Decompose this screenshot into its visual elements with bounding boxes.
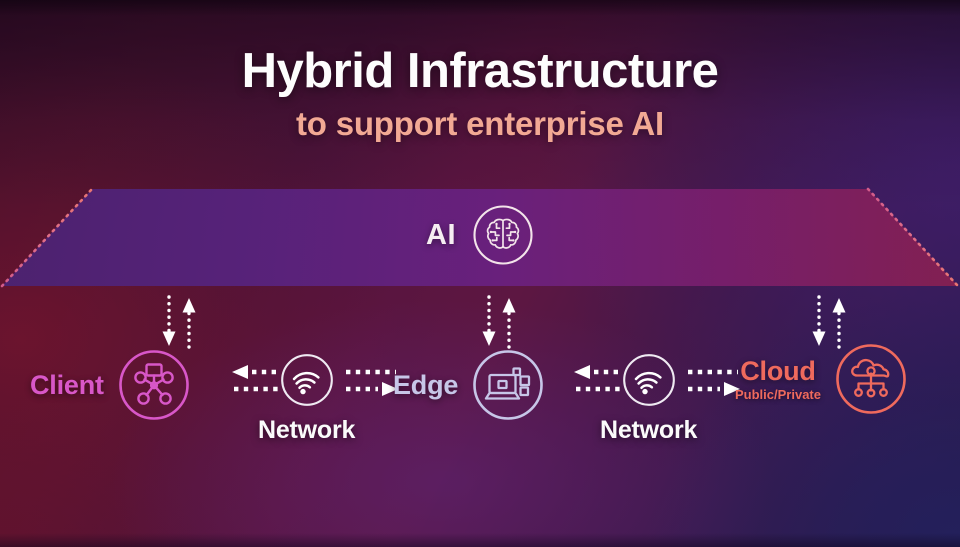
page-subtitle: to support enterprise AI	[0, 105, 960, 143]
flow-node-edge[interactable]: Edge	[393, 348, 545, 422]
cloud-distribution-icon	[834, 342, 908, 416]
laptop-devices-icon	[471, 348, 545, 422]
edge-label: Edge	[393, 372, 458, 399]
cloud-label: Cloud	[740, 358, 815, 385]
client-label: Client	[30, 372, 104, 399]
wireless-signal-icon	[279, 352, 335, 408]
wireless-signal-icon	[621, 352, 677, 408]
background-top-bar	[0, 0, 960, 16]
ai-layer: AI	[0, 204, 960, 266]
cloud-sublabel: Public/Private	[735, 388, 821, 401]
title-block: Hybrid Infrastructure to support enterpr…	[0, 46, 960, 143]
ai-label: AI	[426, 219, 456, 252]
slide-canvas: Hybrid Infrastructure to support enterpr…	[0, 0, 960, 547]
page-title: Hybrid Infrastructure	[0, 46, 960, 97]
flow-node-client[interactable]: Client	[30, 348, 191, 422]
brain-circuit-icon	[472, 204, 534, 266]
network-1-label: Network	[258, 416, 355, 445]
infrastructure-flow: Client	[0, 330, 960, 470]
network-2-label: Network	[600, 416, 697, 445]
flow-node-network-2[interactable]: Network	[600, 352, 697, 445]
background-bottom-bar	[0, 533, 960, 547]
flow-node-network-1[interactable]: Network	[258, 352, 355, 445]
client-hub-network-icon	[117, 348, 191, 422]
flow-node-cloud[interactable]: Cloud Public/Private	[735, 342, 908, 416]
